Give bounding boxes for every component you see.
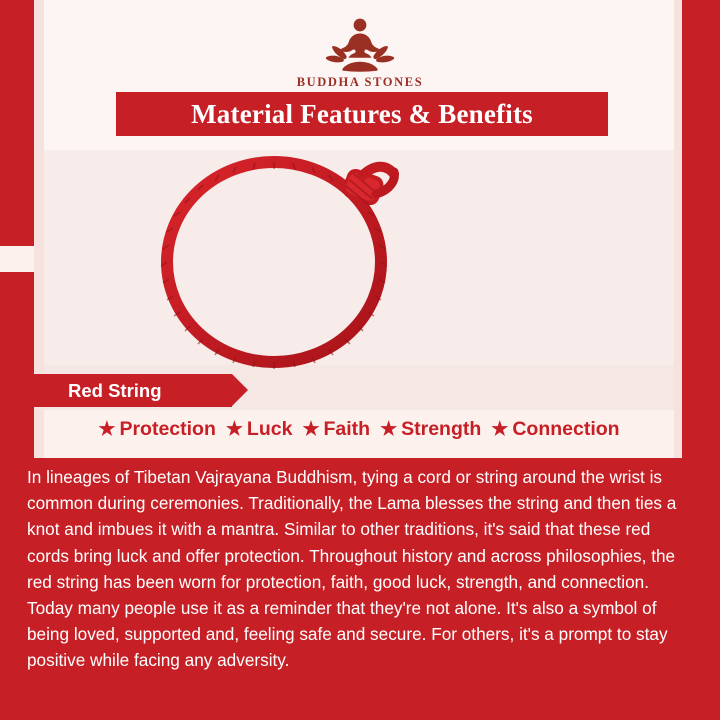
feature-item: ★ Connection bbox=[486, 418, 624, 441]
description-text: In lineages of Tibetan Vajrayana Buddhis… bbox=[24, 458, 696, 674]
feature-item: ★ Faith bbox=[297, 418, 375, 441]
product-label-tag-tail bbox=[232, 374, 248, 406]
feature-label: Luck bbox=[247, 418, 293, 441]
brand-logo: BUDDHA STONES bbox=[0, 14, 720, 90]
feature-label: Faith bbox=[323, 418, 370, 441]
description-panel: In lineages of Tibetan Vajrayana Buddhis… bbox=[24, 458, 696, 720]
product-label-text: Red String bbox=[34, 380, 162, 402]
lotus-meditation-icon bbox=[0, 14, 720, 72]
feature-label: Connection bbox=[512, 418, 619, 441]
feature-item: ★ Strength bbox=[375, 418, 486, 441]
left-border-notch bbox=[0, 246, 34, 272]
star-icon: ★ bbox=[491, 420, 508, 439]
page-title: Material Features & Benefits bbox=[116, 92, 608, 136]
star-icon: ★ bbox=[380, 420, 397, 439]
product-image bbox=[44, 150, 674, 370]
infographic-page: BUDDHA STONES Material Features & Benefi… bbox=[0, 0, 720, 720]
product-label-tag: Red String bbox=[34, 374, 232, 407]
star-icon: ★ bbox=[302, 420, 319, 439]
brand-name: BUDDHA STONES bbox=[0, 75, 720, 90]
feature-item: ★ Luck bbox=[221, 418, 298, 441]
feature-list: ★ Protection ★ Luck ★ Faith ★ Strength ★… bbox=[44, 418, 674, 441]
page-title-text: Material Features & Benefits bbox=[191, 99, 533, 130]
feature-label: Strength bbox=[401, 418, 481, 441]
star-icon: ★ bbox=[226, 420, 243, 439]
feature-label: Protection bbox=[119, 418, 215, 441]
star-icon: ★ bbox=[98, 420, 115, 439]
feature-item: ★ Protection bbox=[93, 418, 220, 441]
